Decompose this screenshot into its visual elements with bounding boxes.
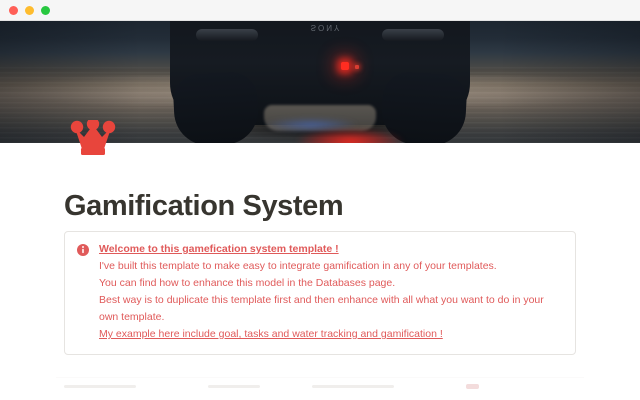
- info-icon: [77, 241, 89, 343]
- callout-text-body: Welcome to this gamefication system temp…: [99, 241, 561, 343]
- callout-line-3: Best way is to duplicate this template f…: [99, 292, 561, 326]
- minimize-window-button[interactable]: [25, 6, 34, 15]
- callout-line-heading[interactable]: Welcome to this gamefication system temp…: [99, 241, 561, 258]
- page-title: Gamification System: [64, 190, 640, 223]
- placeholder-tag: [466, 384, 479, 389]
- welcome-callout[interactable]: Welcome to this gamefication system temp…: [64, 231, 576, 355]
- maximize-window-button[interactable]: [41, 6, 50, 15]
- callout-line-link[interactable]: My example here include goal, tasks and …: [99, 326, 561, 343]
- content-divider: [56, 377, 584, 378]
- window-titlebar: [0, 0, 640, 21]
- window-controls: [9, 6, 50, 15]
- placeholder-bar: [64, 385, 136, 388]
- placeholder-bar: [312, 385, 394, 388]
- callout-line-2: You can find how to enhance this model i…: [99, 275, 561, 292]
- placeholder-bar: [208, 385, 260, 388]
- close-window-button[interactable]: [9, 6, 18, 15]
- crown-icon[interactable]: [70, 120, 116, 156]
- below-fold-content-row: [0, 385, 640, 400]
- callout-line-1: I've built this template to make easy to…: [99, 258, 561, 275]
